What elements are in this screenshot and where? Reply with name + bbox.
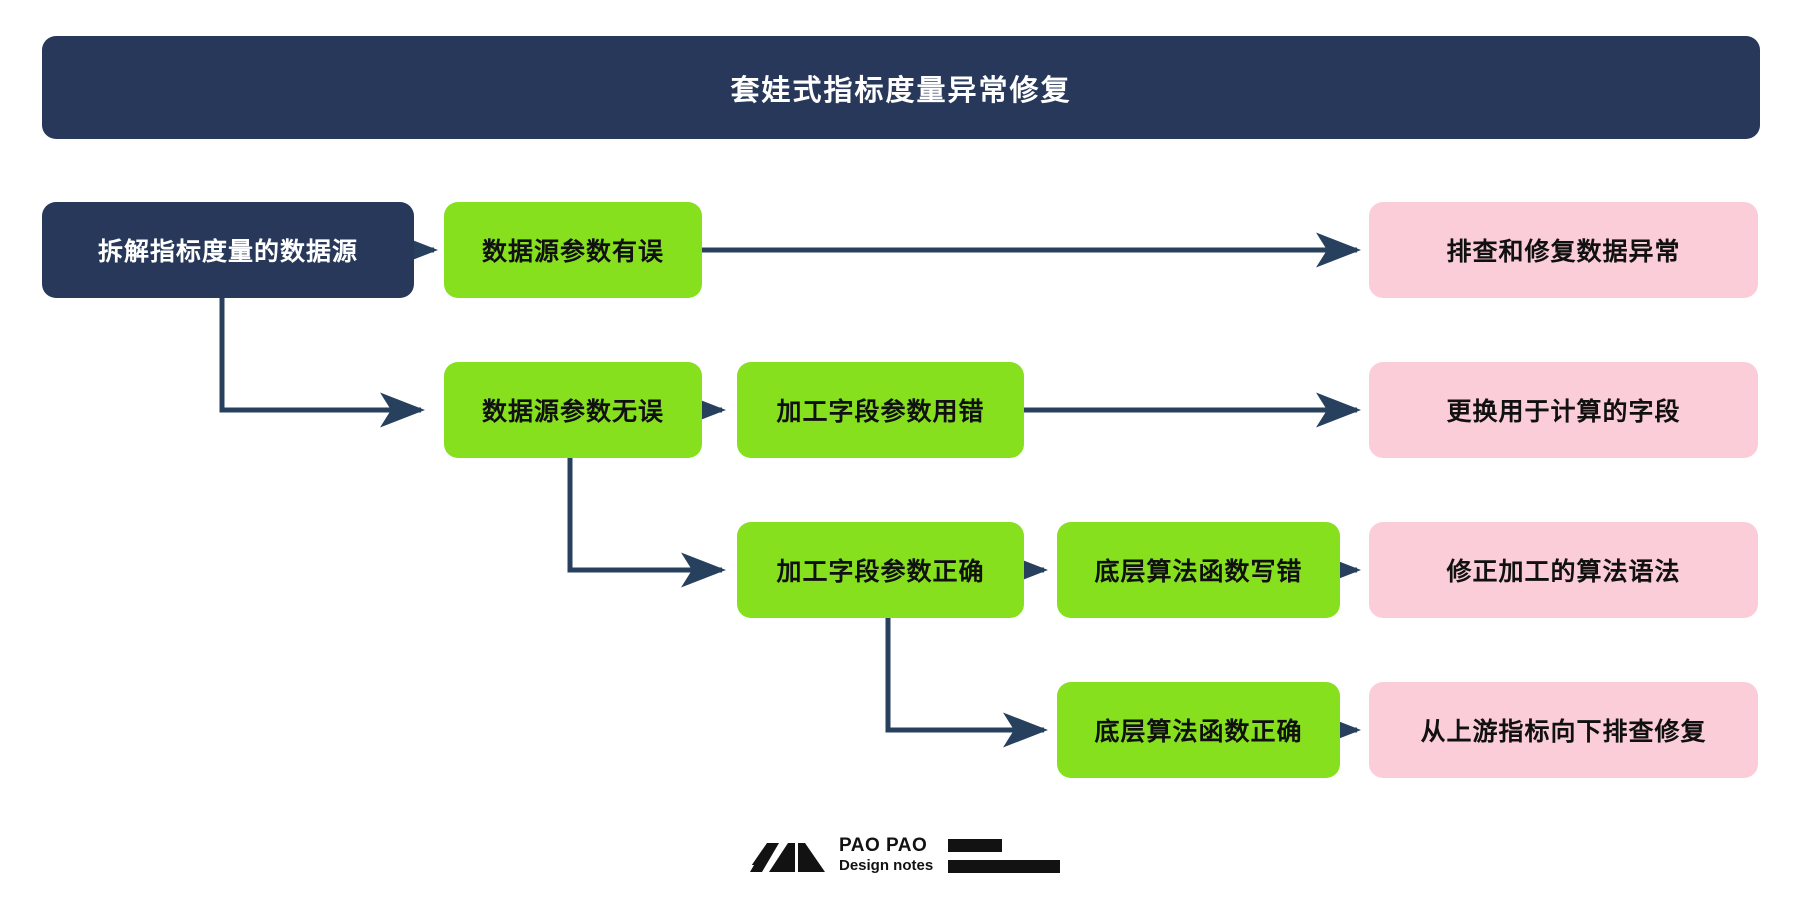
footer-bar-long xyxy=(948,860,1060,873)
node-cond1[interactable]: 数据源参数有误 xyxy=(444,202,702,298)
node-cond6[interactable]: 底层算法函数正确 xyxy=(1057,682,1340,778)
node-cond4[interactable]: 加工字段参数正确 xyxy=(737,522,1024,618)
node-cond2-label: 数据源参数无误 xyxy=(482,392,664,428)
node-cond2[interactable]: 数据源参数无误 xyxy=(444,362,702,458)
node-fix1[interactable]: 排查和修复数据异常 xyxy=(1369,202,1758,298)
footer-brand-line1: PAO PAO xyxy=(839,836,933,855)
footer-brand-line2: Design notes xyxy=(839,858,933,873)
edge-cond4-to-cond6 xyxy=(888,618,1044,730)
node-fix3[interactable]: 修正加工的算法语法 xyxy=(1369,522,1758,618)
paopao-mountain-logo-icon xyxy=(745,840,831,874)
node-fix2[interactable]: 更换用于计算的字段 xyxy=(1369,362,1758,458)
node-root-label: 拆解指标度量的数据源 xyxy=(98,232,358,268)
edge-root-to-cond2 xyxy=(222,298,421,410)
node-fix4-label: 从上游指标向下排查修复 xyxy=(1420,712,1706,748)
node-cond4-label: 加工字段参数正确 xyxy=(776,552,984,588)
node-fix3-label: 修正加工的算法语法 xyxy=(1446,552,1680,588)
footer-wordmark: PAO PAO Design notes xyxy=(839,836,933,873)
node-cond3-label: 加工字段参数用错 xyxy=(776,392,984,428)
node-cond6-label: 底层算法函数正确 xyxy=(1094,712,1302,748)
diagram-canvas: 套娃式指标度量异常修复 xyxy=(0,0,1800,912)
node-root[interactable]: 拆解指标度量的数据源 xyxy=(42,202,414,298)
page-title: 套娃式指标度量异常修复 xyxy=(730,67,1071,109)
node-fix2-label: 更换用于计算的字段 xyxy=(1446,392,1680,428)
edge-cond2-to-cond4 xyxy=(570,458,722,570)
page-title-banner: 套娃式指标度量异常修复 xyxy=(42,36,1760,139)
footer-logo: PAO PAO Design notes xyxy=(745,836,1060,878)
node-fix1-label: 排查和修复数据异常 xyxy=(1446,232,1680,268)
node-cond5[interactable]: 底层算法函数写错 xyxy=(1057,522,1340,618)
footer-bar-short xyxy=(948,839,1002,852)
node-cond3[interactable]: 加工字段参数用错 xyxy=(737,362,1024,458)
node-cond1-label: 数据源参数有误 xyxy=(482,232,664,268)
node-cond5-label: 底层算法函数写错 xyxy=(1094,552,1302,588)
node-fix4[interactable]: 从上游指标向下排查修复 xyxy=(1369,682,1758,778)
